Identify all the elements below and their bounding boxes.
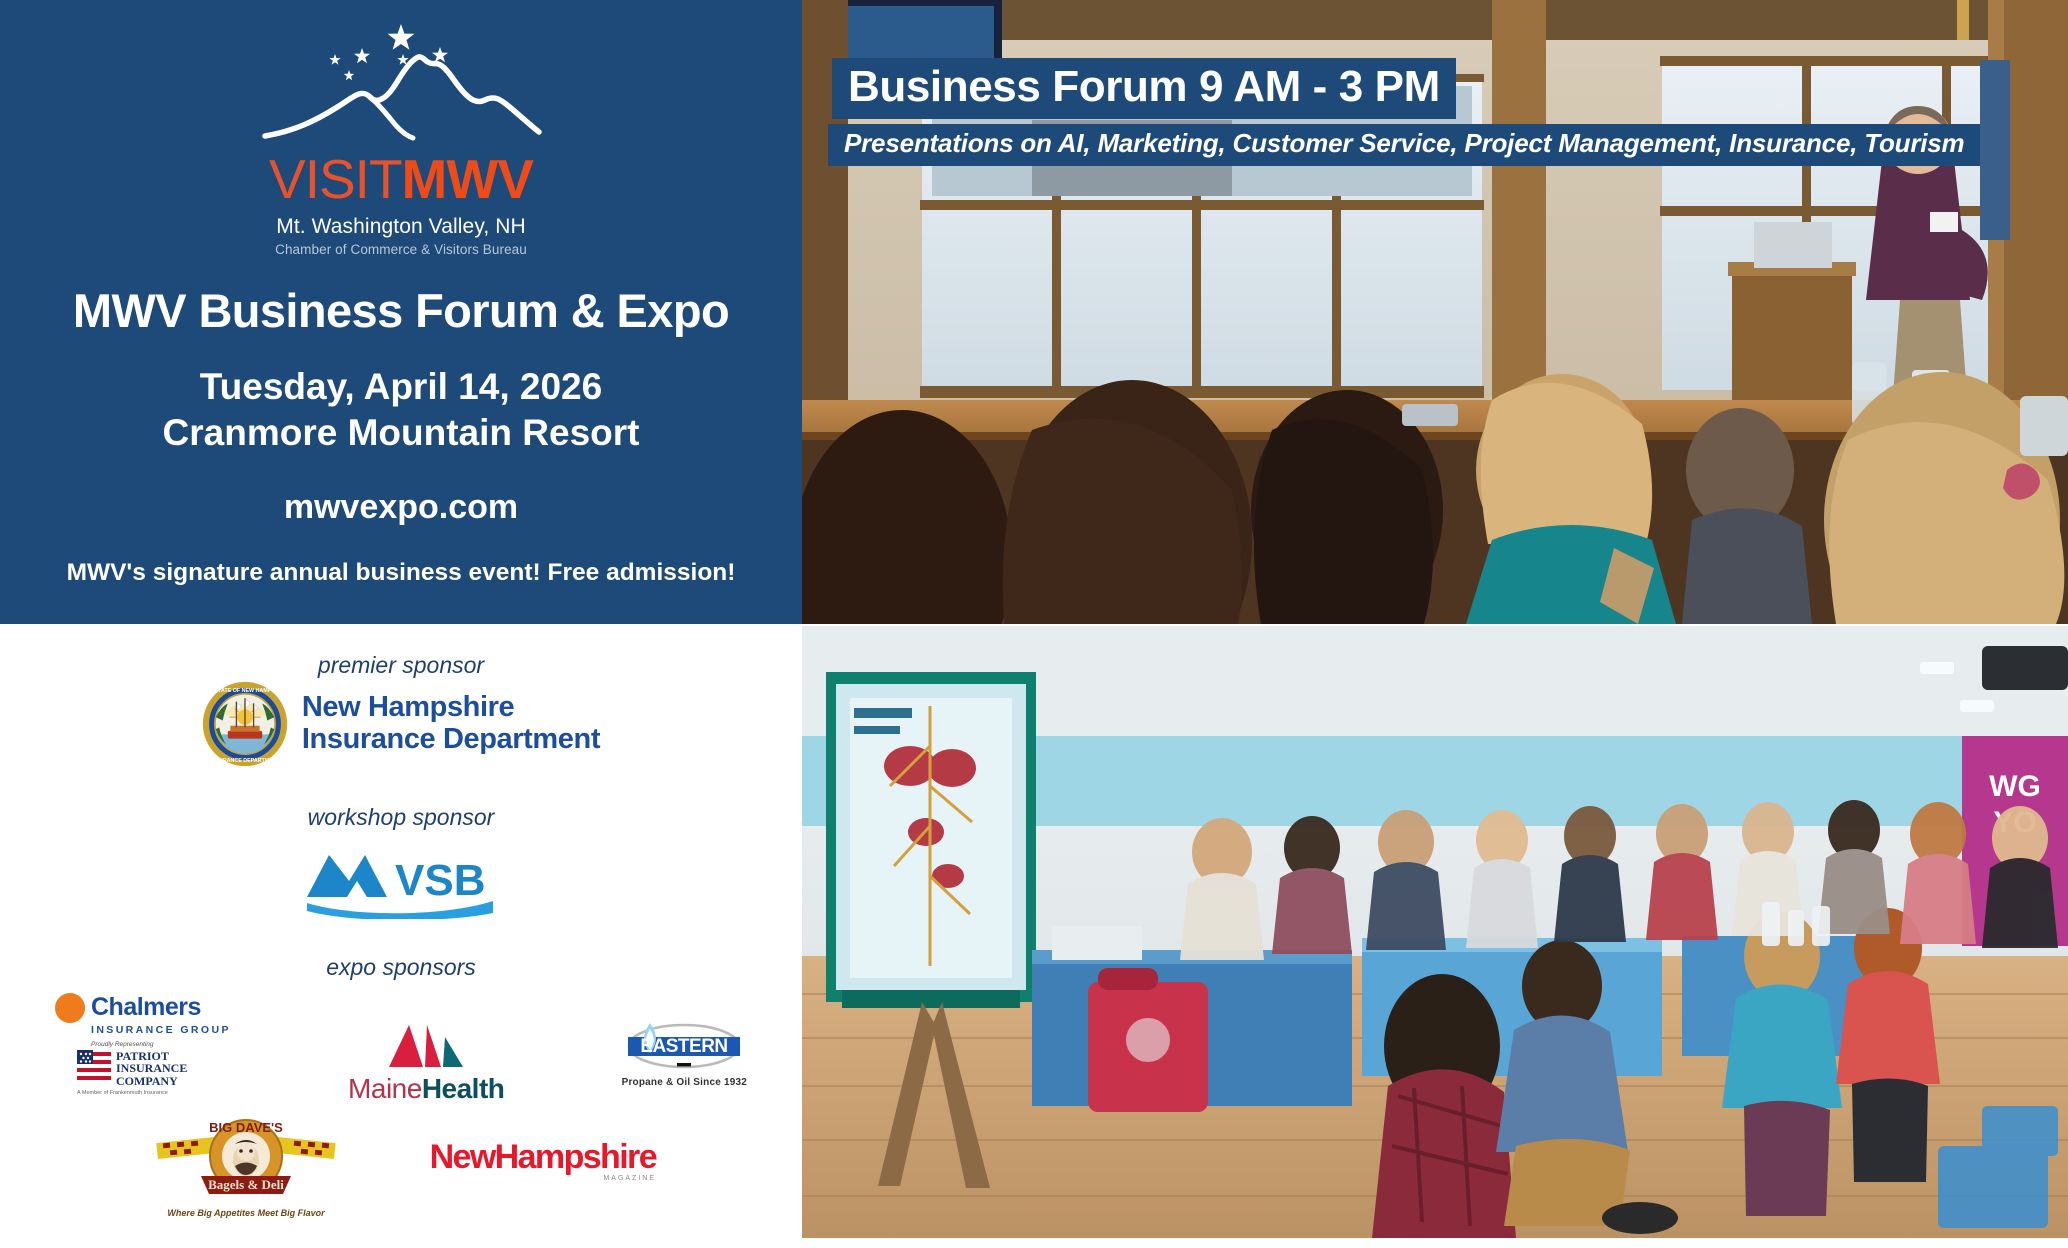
svg-text:THE STATE OF NEW HAMPSHIRE: THE STATE OF NEW HAMPSHIRE — [202, 688, 287, 694]
svg-text:WG: WG — [1989, 770, 2041, 803]
visitmwv-logo: VISITMWV Mt. Washington Valley, NH Chamb… — [191, 18, 611, 257]
expo-sponsors-grid: Chalmers INSURANCE GROUP Proudly Represe… — [21, 993, 781, 1105]
chalmers-proud-line: Proudly Representing — [91, 1041, 154, 1048]
left-column: VISITMWV Mt. Washington Valley, NH Chamb… — [0, 0, 802, 1248]
wordmark-visit: VISIT — [269, 148, 402, 210]
expo-sponsors-row-2: BIG DAVE'S Bagels & Deli Where Big Appet… — [0, 1114, 802, 1218]
expo-hall-image: WG YO — [802, 626, 2068, 1238]
mainehealth-maine: Maine — [348, 1073, 422, 1104]
sponsor-logo-big-daves: BIG DAVE'S Bagels & Deli Where Big Appet… — [146, 1114, 346, 1218]
nh-line-2: Insurance Department — [302, 724, 600, 756]
nh-magazine-subtitle: MAGAZINE — [603, 1175, 656, 1182]
nh-insurance-department-name: New Hampshire Insurance Department — [302, 692, 600, 756]
visitmwv-wordmark: VISITMWV — [269, 152, 533, 207]
eastern-flame-icon: EASTERN — [624, 1019, 744, 1073]
wordmark-mwv: MWV — [402, 148, 533, 210]
brand-panel: VISITMWV Mt. Washington Valley, NH Chamb… — [0, 0, 802, 624]
sponsor-logo-mainehealth: MaineHealth — [348, 1017, 504, 1105]
eastern-wordmark: EASTERN — [641, 1036, 728, 1057]
patriot-footnote: A Member of Frankenmuth Insurance — [77, 1090, 168, 1096]
nh-line-1: New Hampshire — [302, 692, 600, 724]
mainehealth-health: Health — [422, 1073, 505, 1104]
chalmers-name: Chalmers — [91, 996, 201, 1020]
sponsors-panel: premier sponsor — [0, 624, 802, 1248]
event-venue: Cranmore Mountain Resort — [163, 410, 640, 456]
workshop-sponsor-label: workshop sponsor — [308, 804, 495, 831]
business-forum-photo: Business Forum 9 AM - 3 PM Presentations… — [802, 0, 2068, 624]
event-date: Tuesday, April 14, 2026 — [163, 364, 640, 410]
mvsb-wordmark: VSB — [395, 856, 485, 905]
chalmers-orb-icon — [55, 993, 85, 1023]
mountain-stars-icon — [251, 18, 551, 158]
big-daves-name-bottom: Bagels & Deli — [208, 1177, 284, 1192]
forum-banner-title-box: Business Forum 9 AM - 3 PM — [832, 58, 1456, 119]
svg-text:INSURANCE DEPARTMENT: INSURANCE DEPARTMENT — [210, 758, 281, 764]
mainehealth-m-icon — [387, 1017, 465, 1069]
forum-banner-title: Business Forum 9 AM - 3 PM — [848, 64, 1440, 110]
workshop-sponsor-section: workshop sponsor VSB — [0, 804, 802, 919]
event-website-link[interactable]: mwvexpo.com — [284, 488, 518, 527]
patriot-line-3: COMPANY — [116, 1075, 187, 1087]
sponsor-logo-eastern-propane: EASTERN Propane & Oil Since 1932 — [622, 1019, 747, 1088]
event-datetime: Tuesday, April 14, 2026 Cranmore Mountai… — [163, 364, 640, 456]
business-expo-photo: WG YO — [802, 626, 2068, 1238]
brand-organization: Chamber of Commerce & Visitors Bureau — [275, 242, 527, 257]
premier-sponsor-label: premier sponsor — [318, 652, 484, 679]
brand-location: Mt. Washington Valley, NH — [276, 215, 526, 239]
patriot-insurance-name: PATRIOT INSURANCE COMPANY — [116, 1050, 187, 1087]
expo-sponsors-label: expo sponsors — [326, 954, 476, 981]
event-title: MWV Business Forum & Expo — [73, 283, 729, 338]
mvsb-mountain-icon: VSB — [303, 839, 499, 919]
expo-sponsors-section: expo sponsors Chalmers INSURANCE GROUP P… — [0, 954, 802, 1105]
forum-banner-subtitle-box: Presentations on AI, Marketing, Customer… — [828, 124, 1980, 166]
event-poster: VISITMWV Mt. Washington Valley, NH Chamb… — [0, 0, 2068, 1248]
patriot-flag-icon — [77, 1050, 111, 1080]
sponsor-logo-chalmers: Chalmers INSURANCE GROUP Proudly Represe… — [55, 993, 231, 1096]
mainehealth-wordmark: MaineHealth — [348, 1073, 504, 1105]
nh-magazine-wordmark: NewHampshire — [430, 1140, 656, 1174]
big-daves-name-top: BIG DAVE'S — [209, 1120, 283, 1135]
nh-insurance-department-logo: THE STATE OF NEW HAMPSHIRE INSURANCE DEP… — [202, 681, 600, 767]
big-daves-tagline: Where Big Appetites Meet Big Flavor — [167, 1208, 324, 1218]
big-daves-bagel-icon: BIG DAVE'S Bagels & Deli — [151, 1114, 341, 1206]
premier-sponsor-section: premier sponsor — [0, 652, 802, 767]
event-tagline: MWV's signature annual business event! F… — [67, 559, 736, 587]
forum-banner-subtitle: Presentations on AI, Marketing, Customer… — [844, 130, 1964, 157]
chalmers-subtitle: INSURANCE GROUP — [91, 1024, 231, 1036]
sponsor-logo-nh-magazine: NewHampshire MAGAZINE — [456, 1140, 656, 1182]
new-hampshire-state-seal-icon: THE STATE OF NEW HAMPSHIRE INSURANCE DEP… — [202, 681, 288, 767]
eastern-tagline: Propane & Oil Since 1932 — [622, 1077, 747, 1088]
